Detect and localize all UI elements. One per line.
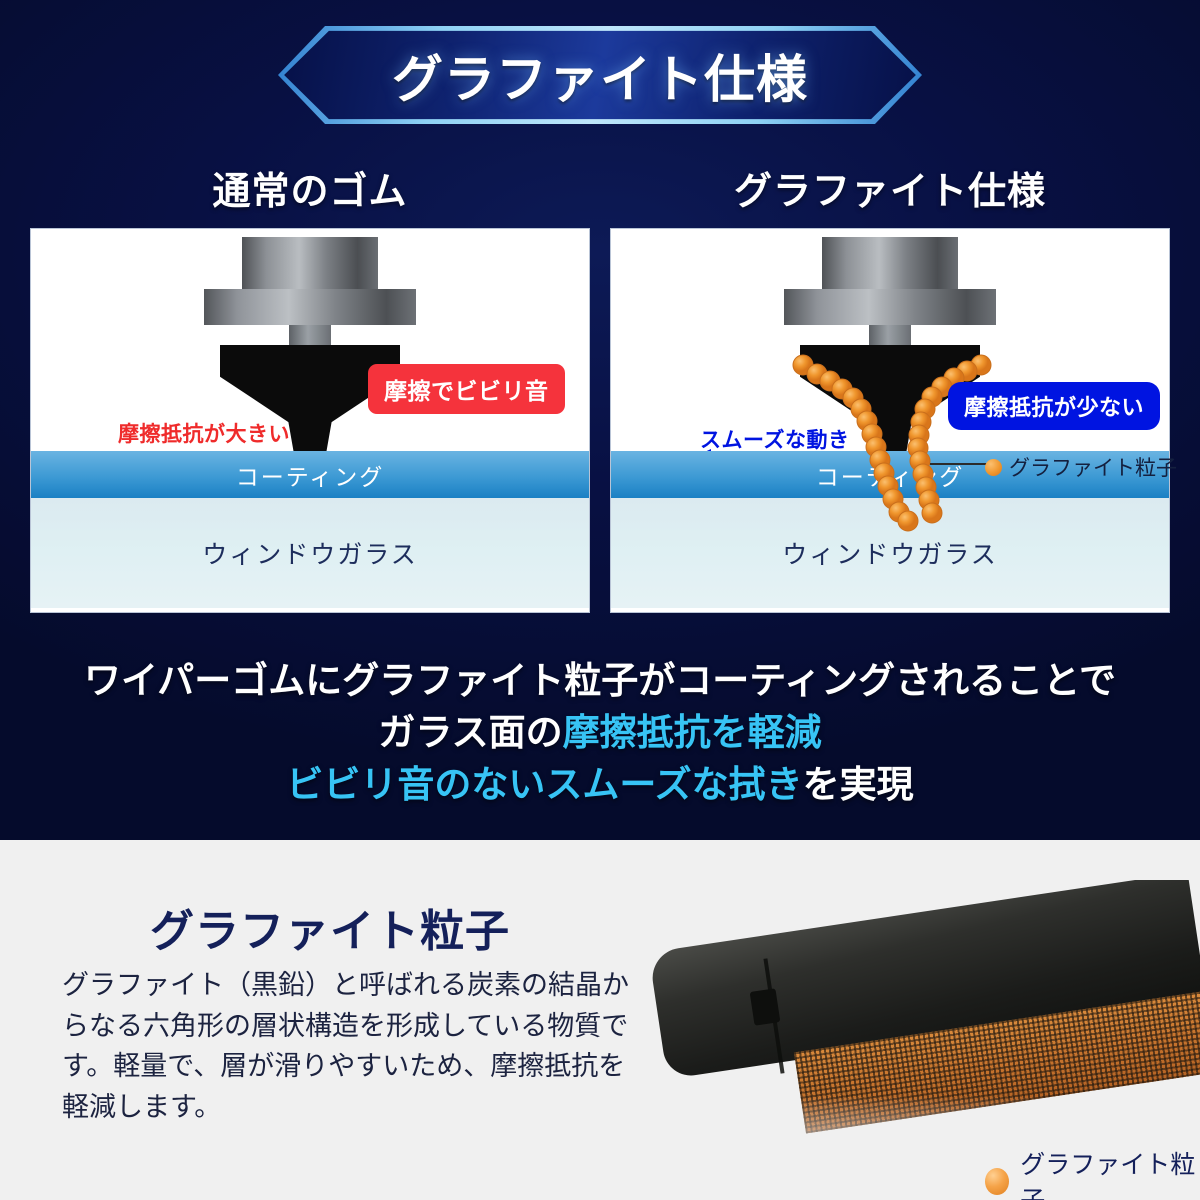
desc3-plain: を実現: [803, 764, 914, 805]
wiper-holder-flange: [204, 289, 416, 325]
badge-low-friction: 摩擦抵抗が少ない: [948, 382, 1160, 430]
top-navy-section: グラファイト仕様 通常のゴム グラファイト仕様: [0, 0, 1200, 840]
infographic-page: グラファイト仕様 通常のゴム グラファイト仕様: [0, 0, 1200, 1200]
wiper-holder-top-2: [822, 237, 958, 293]
legend-graphite-particle: グラファイト粒子: [985, 1145, 1200, 1200]
graphite-dot-icon: [985, 459, 1002, 476]
diagram-panel-normal-rubber: [30, 228, 590, 613]
description-line-3: ビビリ音のないスムーズな拭きを実現: [0, 754, 1200, 808]
panel-title-normal-rubber: 通常のゴム: [30, 160, 590, 215]
callout-label: グラファイト粒子: [1009, 452, 1177, 482]
wiper-holder-neck-2: [869, 325, 911, 347]
callout-graphite-particle: グラファイト粒子: [985, 452, 1177, 482]
callout-leader-line: [930, 463, 988, 465]
label-smooth-motion: スムーズな動き: [700, 424, 849, 454]
bottom-heading: グラファイト粒子: [150, 895, 510, 959]
wiper-holder-top: [242, 237, 378, 293]
desc2-plain: ガラス面の: [378, 712, 562, 753]
description-line-1: ワイパーゴムにグラファイト粒子がコーティングされることで: [0, 650, 1200, 704]
label-high-friction: 摩擦抵抗が大きい: [118, 418, 290, 448]
legend-dot-icon: [985, 1168, 1009, 1195]
wiper-holder-flange-2: [784, 289, 996, 325]
badge-vibration-noise: 摩擦でビビリ音: [368, 364, 565, 414]
description-line-2: ガラス面の摩擦抵抗を軽減: [0, 702, 1200, 756]
wiper-holder-neck: [289, 325, 331, 347]
panel-title-graphite: グラファイト仕様: [610, 160, 1170, 215]
smooth-motion-arrow-icon: [649, 449, 939, 507]
product-photo-wiper-blade: [640, 880, 1200, 1180]
desc3-highlight-2: スムーズな拭き: [545, 764, 802, 805]
desc3-highlight-1: ビビリ音のない: [286, 764, 545, 805]
photo-fade-overlay: [640, 880, 1200, 1180]
header-banner: グラファイト仕様: [278, 26, 922, 124]
bottom-body-text: グラファイト（黒鉛）と呼ばれる炭素の結晶からなる六角形の層状構造を形成している物…: [62, 965, 637, 1127]
page-title: グラファイト仕様: [278, 26, 922, 124]
legend-label: グラファイト粒子: [1020, 1145, 1200, 1200]
desc2-highlight: 摩擦抵抗を軽減: [563, 712, 822, 753]
